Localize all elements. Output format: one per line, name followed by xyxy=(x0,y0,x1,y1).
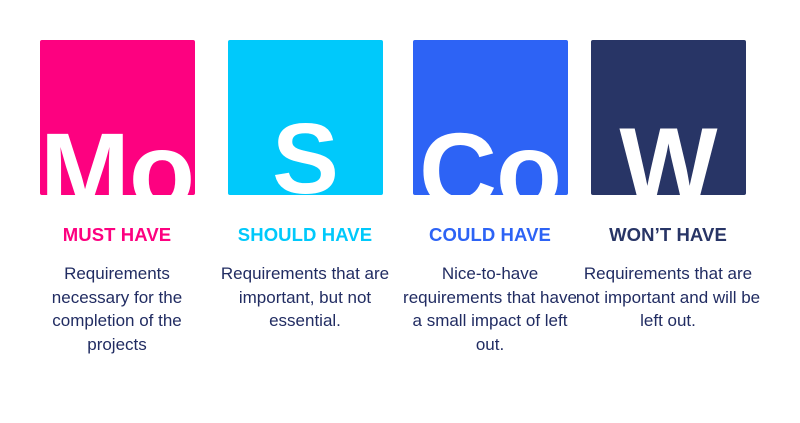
description-must-have: Requirements necessary for the completio… xyxy=(24,262,210,356)
heading-must-have: MUST HAVE xyxy=(63,225,171,245)
tile-letters-could: Co xyxy=(413,117,568,195)
letter-tile-wont: W xyxy=(591,40,746,195)
letter-tile-should: S xyxy=(228,40,383,195)
tile-letters-must: Mo xyxy=(40,117,195,195)
tile-letters-should: S xyxy=(228,109,383,195)
moscow-column-should: S SHOULD HAVE Requirements that are impo… xyxy=(212,40,398,333)
moscow-column-wont: W WON’T HAVE Requirements that are not i… xyxy=(575,40,761,333)
letter-tile-could: Co xyxy=(413,40,568,195)
heading-should-have: SHOULD HAVE xyxy=(238,225,372,245)
heading-could-have: COULD HAVE xyxy=(429,225,551,245)
description-wont-have: Requirements that are not important and … xyxy=(571,262,765,333)
letter-tile-must: Mo xyxy=(40,40,195,195)
description-could-have: Nice-to-have requirements that have a sm… xyxy=(401,262,579,356)
moscow-diagram: Mo MUST HAVE Requirements necessary for … xyxy=(0,0,800,423)
tile-letters-wont: W xyxy=(591,113,746,195)
heading-wont-have: WON’T HAVE xyxy=(609,225,727,245)
moscow-column-could: Co COULD HAVE Nice-to-have requirements … xyxy=(397,40,583,356)
description-should-have: Requirements that are important, but not… xyxy=(212,262,398,333)
moscow-column-must: Mo MUST HAVE Requirements necessary for … xyxy=(24,40,210,356)
